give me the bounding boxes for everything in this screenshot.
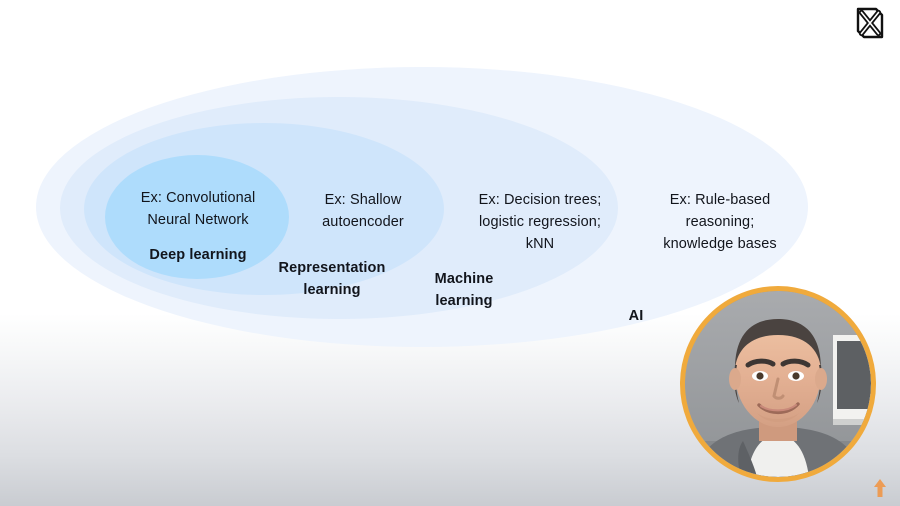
label-representation-learning: Representation learning — [264, 258, 400, 302]
label-machine-learning: Machine learning — [410, 269, 518, 313]
x-monogram-logo-icon — [852, 7, 888, 43]
label-ai: AI — [600, 306, 672, 328]
examples-representation-learning: Ex: Shallow autoencoder — [287, 190, 439, 234]
examples-deep-learning: Ex: Convolutional Neural Network — [110, 188, 286, 232]
examples-machine-learning: Ex: Decision trees; logistic regression;… — [450, 190, 630, 255]
slide-canvas: Ex: Convolutional Neural Network Deep le… — [0, 0, 900, 506]
presenter-video-frame — [685, 291, 871, 477]
cursor-arrow-icon — [872, 478, 888, 498]
label-deep-learning: Deep learning — [110, 245, 286, 267]
examples-ai: Ex: Rule-based reasoning; knowledge base… — [638, 190, 802, 255]
presenter-video-bubble[interactable] — [680, 286, 876, 482]
